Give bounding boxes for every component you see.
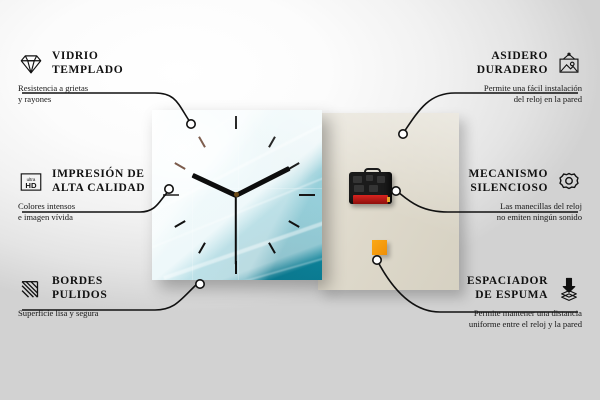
svg-text:HD: HD [25, 181, 37, 190]
feature-vidrio-templado: VIDRIOTEMPLADO Resistencia a grietas y r… [18, 50, 198, 104]
feature-title: BORDESPULIDOS [52, 275, 107, 302]
feature-description: Permite una fácil instalación del reloj … [400, 83, 582, 104]
feature-description: Colores intensos e imagen vívida [18, 201, 198, 222]
connector-dot [373, 256, 381, 264]
clock-center-hub [234, 192, 239, 197]
feature-header: VIDRIOTEMPLADO [18, 50, 198, 77]
feature-header: MECANISMOSILENCIOSO [400, 168, 582, 195]
connector-dot [399, 130, 407, 138]
feature-description: Resistencia a grietas y rayones [18, 83, 198, 104]
connector-dot [187, 120, 195, 128]
infographic-stage: VIDRIOTEMPLADO Resistencia a grietas y r… [0, 0, 600, 400]
feature-description: Superficie lisa y segura [18, 308, 203, 319]
feature-header: ESPACIADORDE ESPUMA [392, 275, 582, 302]
gear-icon [556, 169, 582, 195]
picture-frame-icon [556, 51, 582, 77]
feature-description: Las manecillas del reloj no emiten ningú… [400, 201, 582, 222]
feature-title: ASIDERODURADERO [477, 50, 548, 77]
connector-dot [392, 187, 400, 195]
feature-header: ultra HD IMPRESIÓN DEALTA CALIDAD [18, 168, 198, 195]
feature-title: VIDRIOTEMPLADO [52, 50, 123, 77]
feature-espaciador-de-espuma: ESPACIADORDE ESPUMA Permite mantener una… [392, 275, 582, 329]
diagonal-lines-icon [18, 276, 44, 302]
feature-header: ASIDERODURADERO [400, 50, 582, 77]
feature-header: BORDESPULIDOS [18, 275, 203, 302]
feature-title: MECANISMOSILENCIOSO [468, 168, 548, 195]
feature-mecanismo-silencioso: MECANISMOSILENCIOSO Las manecillas del r… [400, 168, 582, 222]
ultra-hd-icon: ultra HD [18, 169, 44, 195]
feature-description: Permite mantener una distancia uniforme … [392, 308, 582, 329]
clock-second-hand [235, 195, 237, 265]
arrow-down-layers-icon [556, 276, 582, 302]
feature-impresion-alta-calidad: ultra HD IMPRESIÓN DEALTA CALIDAD Colore… [18, 168, 198, 222]
feature-bordes-pulidos: BORDESPULIDOS Superficie lisa y segura [18, 275, 203, 319]
feature-title: IMPRESIÓN DEALTA CALIDAD [52, 168, 145, 195]
feature-title: ESPACIADORDE ESPUMA [467, 275, 548, 302]
feature-asidero-duradero: ASIDERODURADERO Permite una fácil instal… [400, 50, 582, 104]
diamond-icon [18, 51, 44, 77]
